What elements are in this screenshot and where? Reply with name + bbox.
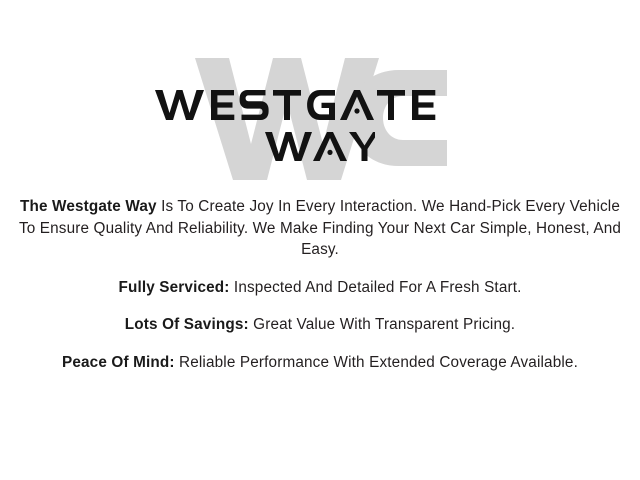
peace-of-mind-lead: Peace Of Mind: (62, 354, 175, 371)
peace-of-mind-body: Reliable Performance With Extended Cover… (175, 354, 578, 371)
lots-of-savings-paragraph: Lots Of Savings: Great Value With Transp… (18, 314, 622, 336)
way-submark (0, 130, 640, 162)
westgate-wordmark (0, 88, 640, 122)
brand-masthead (0, 0, 640, 185)
fully-serviced-lead: Fully Serviced: (118, 279, 229, 296)
peace-of-mind-paragraph: Peace Of Mind: Reliable Performance With… (18, 352, 622, 374)
fully-serviced-body: Inspected And Detailed For A Fresh Start… (230, 279, 522, 296)
intro-paragraph: The Westgate Way Is To Create Joy In Eve… (18, 196, 622, 261)
intro-lead: The Westgate Way (20, 198, 157, 215)
value-proposition-copy: The Westgate Way Is To Create Joy In Eve… (18, 196, 622, 373)
dealer-value-proposition-card: The Westgate Way Is To Create Joy In Eve… (0, 0, 640, 480)
fully-serviced-paragraph: Fully Serviced: Inspected And Detailed F… (18, 277, 622, 299)
lots-of-savings-body: Great Value With Transparent Pricing. (249, 316, 515, 333)
lots-of-savings-lead: Lots Of Savings: (125, 316, 249, 333)
